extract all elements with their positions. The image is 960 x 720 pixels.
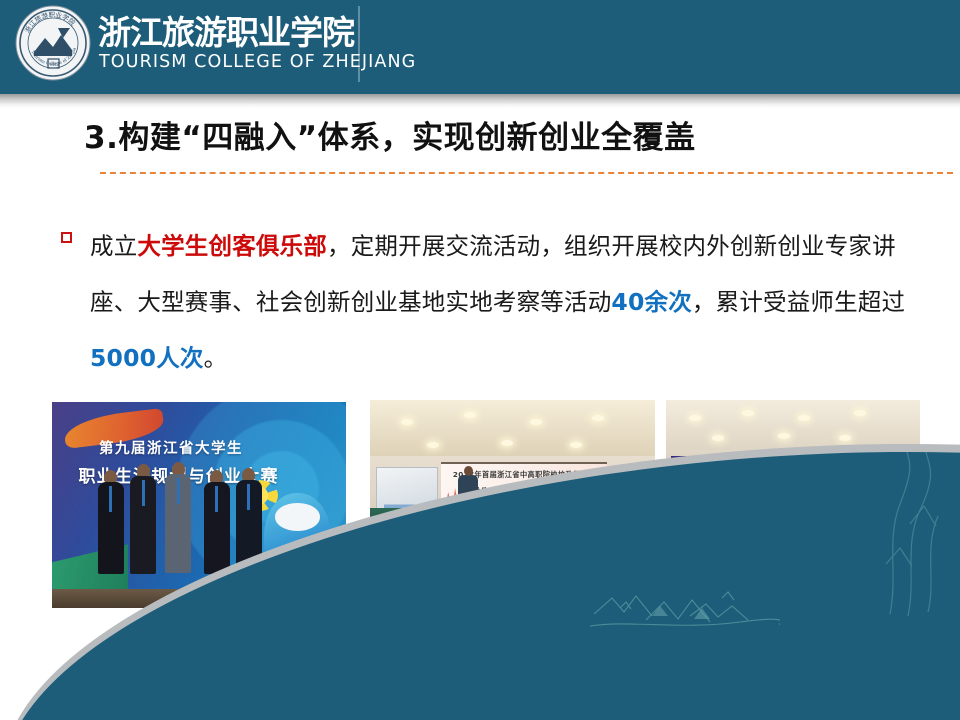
- photo-3-ceiling: [666, 400, 920, 450]
- header-divider: [358, 6, 360, 82]
- photo-3-light-1-icon: [689, 415, 701, 421]
- ceiling-light-7-icon: [570, 442, 582, 448]
- watercolor-landscape-decoration-right: [880, 444, 954, 624]
- seg-4: ，累计受益师生超过: [692, 288, 905, 316]
- bullet-square-icon: [61, 232, 72, 243]
- seg-1-highlight-red: 大学生创客俱乐部: [137, 232, 327, 260]
- seg-5-highlight-blue: 5000人次: [90, 344, 204, 372]
- page-title: 3.构建“四融入”体系，实现创新创业全覆盖: [84, 112, 696, 157]
- seg-3-highlight-blue: 40余次: [611, 288, 692, 316]
- ceiling-light-1-icon: [401, 419, 413, 425]
- college-logo: 1983 浙江旅游职业学院 Tourism College of Zhejian…: [14, 4, 96, 86]
- ceiling-light-5-icon: [427, 442, 439, 448]
- svg-text:浙江旅游职业学院: 浙江旅游职业学院: [98, 13, 355, 52]
- seg-6: 。: [204, 344, 228, 372]
- brand-name-english: TOURISM COLLEGE OF ZHEJIANG: [99, 52, 416, 72]
- ceiling-light-6-icon: [501, 440, 513, 446]
- watercolor-landscape-decoration: [590, 586, 780, 632]
- photo-2-ceiling: [370, 400, 655, 456]
- photo-3-light-3-icon: [798, 415, 810, 421]
- bullet-text: 成立大学生创客俱乐部，定期开展交流活动，组织开展校内外创新创业专家讲座、大型赛事…: [90, 218, 940, 386]
- ceiling-light-4-icon: [592, 415, 604, 421]
- seg-0: 成立: [90, 232, 137, 260]
- college-seal-icon: 1983 浙江旅游职业学院 Tourism College of Zhejian…: [14, 4, 92, 82]
- title-underline-dashed: [100, 172, 953, 174]
- ceiling-light-3-icon: [530, 419, 542, 425]
- slide: 1983 浙江旅游职业学院 Tourism College of Zhejian…: [0, 0, 960, 720]
- bullet-paragraph: 成立大学生创客俱乐部，定期开展交流活动，组织开展校内外创新创业专家讲座、大型赛事…: [60, 218, 940, 386]
- brand-chinese-calligraphy: 浙江旅游职业学院: [98, 10, 358, 54]
- brand-name-chinese: 浙江旅游职业学院: [98, 10, 358, 54]
- header-gradient-strip: [0, 94, 960, 108]
- photo-1-banner-line1: 第九届浙江省大学生: [99, 437, 243, 458]
